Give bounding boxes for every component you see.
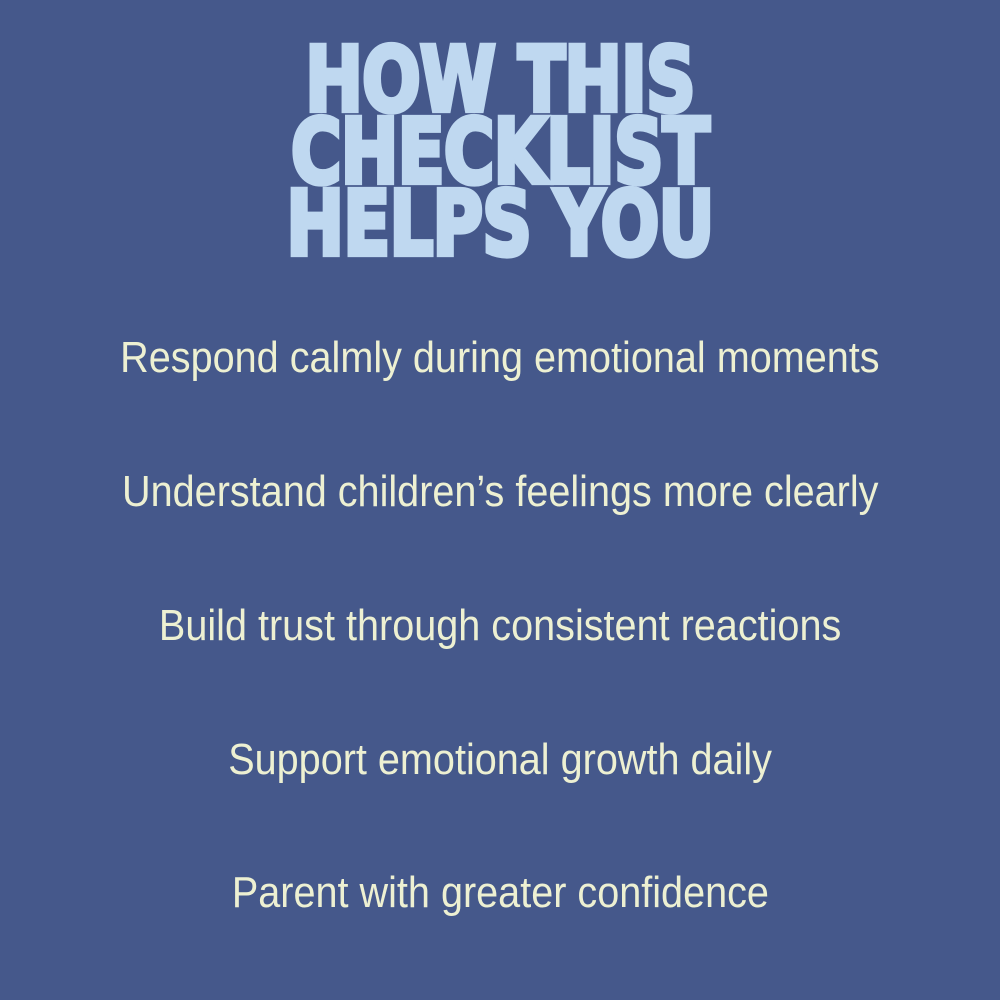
benefit-list: Respond calmly during emotional moments … xyxy=(0,320,1000,940)
benefit-text: Build trust through consistent reactions xyxy=(159,600,841,652)
benefit-text: Support emotional growth daily xyxy=(228,734,772,786)
list-item: Build trust through consistent reactions xyxy=(0,598,1000,654)
list-item: Support emotional growth daily xyxy=(0,732,1000,788)
headline-line-3: HELPS YOU xyxy=(90,186,910,262)
list-item: Respond calmly during emotional moments xyxy=(0,330,1000,386)
list-item: Understand children’s feelings more clea… xyxy=(0,464,1000,520)
benefit-text: Understand children’s feelings more clea… xyxy=(122,466,878,518)
benefit-text: Respond calmly during emotional moments xyxy=(120,332,879,384)
benefit-text: Parent with greater confidence xyxy=(231,867,768,919)
list-item: Parent with greater confidence xyxy=(0,865,1000,921)
poster-canvas: HOW THIS CHECKLIST HELPS YOU Respond cal… xyxy=(0,0,1000,1000)
page-title: HOW THIS CHECKLIST HELPS YOU xyxy=(0,44,1000,260)
